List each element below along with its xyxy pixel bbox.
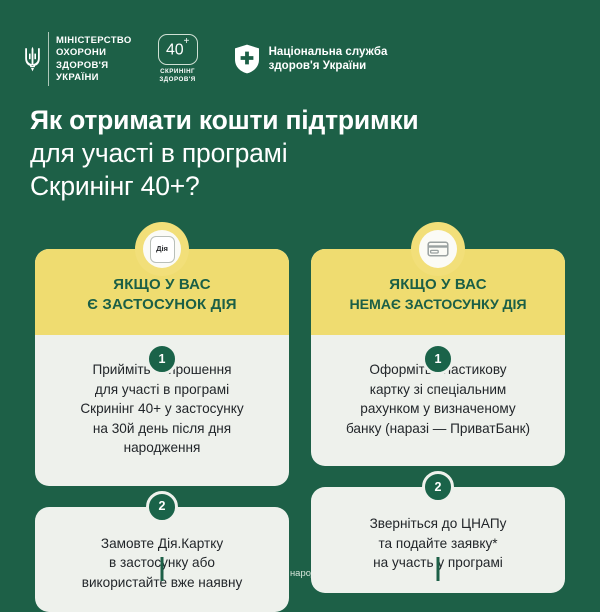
screening-number-value: 40 xyxy=(166,42,183,59)
ministry-line-1: МІНІСТЕРСТВО xyxy=(56,35,132,46)
ministry-of-health-logo: МІНІСТЕРСТВО ОХОРОНИ ЗДОРОВ'Я УКРАЇНИ xyxy=(24,31,132,87)
step-number: 2 xyxy=(435,481,442,494)
ministry-line-4: УКРАЇНИ xyxy=(56,72,132,83)
step-number: 1 xyxy=(159,353,166,366)
diia-icon-label: Дія xyxy=(156,245,168,253)
screening-40plus-logo: 40+ СКРИНІНГ ЗДОРОВ'Я xyxy=(158,34,198,83)
credit-card-badge xyxy=(411,222,465,276)
ministry-logo-text: МІНІСТЕРСТВО ОХОРОНИ ЗДОРОВ'Я УКРАЇНИ xyxy=(56,35,132,84)
step-connector-without-diia xyxy=(437,557,440,581)
screening-40plus-badge: 40+ xyxy=(158,34,198,65)
step-1-line-3: рахунком у визначеному xyxy=(323,399,553,419)
scenario-card-with-diia: ЯКЩО У ВАС Є ЗАСТОСУНОК ДІЯ 1 Прийміть з… xyxy=(35,249,289,486)
screening-caption: СКРИНІНГ ЗДОРОВ'Я xyxy=(159,68,195,83)
badge-inner-circle: Дія xyxy=(143,230,181,268)
step-2-line-2: та подайте заявку* xyxy=(323,534,553,554)
step-1-line-4: на 30й день після дня xyxy=(47,419,277,439)
step-badge-2-with-diia: 2 xyxy=(146,491,178,523)
screening-caption-line-2: ЗДОРОВ'Я xyxy=(159,76,195,84)
infographic-poster: МІНІСТЕРСТВО ОХОРОНИ ЗДОРОВ'Я УКРАЇНИ 40… xyxy=(0,0,600,600)
step-1-line-3: Скринінг 40+ у застосунку xyxy=(47,399,277,419)
scenario-title-line-1: ЯКЩО У ВАС xyxy=(45,275,279,295)
nszu-line-1: Національна служба xyxy=(269,45,388,59)
headline-line-3: Скринінг 40+? xyxy=(30,170,570,203)
logo-bar: МІНІСТЕРСТВО ОХОРОНИ ЗДОРОВ'Я УКРАЇНИ 40… xyxy=(24,28,576,90)
step-1-line-2: картку зі спеціальним xyxy=(323,380,553,400)
screening-caption-line-1: СКРИНІНГ xyxy=(159,68,195,76)
badge-inner-circle xyxy=(419,230,457,268)
step-connector-with-diia xyxy=(161,557,164,581)
headline-line-2: для участі в програмі xyxy=(30,137,570,170)
scenario-title-line-1: ЯКЩО У ВАС xyxy=(321,275,555,295)
ukraine-trident-icon xyxy=(24,46,41,72)
screening-plus-sign: + xyxy=(183,36,189,47)
scenario-columns: Дія ЯКЩО У ВАС Є ЗАСТОСУНОК ДІЯ 1 Приймі… xyxy=(35,222,565,612)
scenario-title-line-2: НЕМАЄ ЗАСТОСУНКУ ДІЯ xyxy=(321,295,555,315)
step-1-line-5: народження xyxy=(47,438,277,458)
step-1-line-4: банку (наразі — ПриватБанк) xyxy=(323,419,553,439)
nszu-logo: Національна служба здоров'я України xyxy=(234,44,388,74)
shield-cross-icon xyxy=(234,44,260,74)
screening-40plus-number: 40+ xyxy=(166,41,189,58)
nszu-logo-text: Національна служба здоров'я України xyxy=(269,45,388,73)
ministry-line-3: ЗДОРОВ'Я xyxy=(56,60,132,71)
scenario-column-without-diia: ЯКЩО У ВАС НЕМАЄ ЗАСТОСУНКУ ДІЯ 1 Оформі… xyxy=(311,222,565,612)
step-badge-1-without-diia: 1 xyxy=(422,343,454,375)
step-2-line-1: Зверніться до ЦНАПу xyxy=(323,514,553,534)
step-number: 2 xyxy=(159,500,166,513)
step-1-line-2: для участі в програмі xyxy=(47,380,277,400)
step-2-line-1: Замовте Дія.Картку xyxy=(47,534,277,554)
ministry-line-2: ОХОРОНИ xyxy=(56,47,132,58)
step-number: 1 xyxy=(435,353,442,366)
step-badge-2-without-diia: 2 xyxy=(422,471,454,503)
diia-app-badge: Дія xyxy=(135,222,189,276)
step-badge-1-with-diia: 1 xyxy=(146,343,178,375)
credit-card-icon xyxy=(426,237,450,261)
headline-line-1: Як отримати кошти підтримки xyxy=(30,104,570,137)
scenario-column-with-diia: Дія ЯКЩО У ВАС Є ЗАСТОСУНОК ДІЯ 1 Приймі… xyxy=(35,222,289,612)
page-title: Як отримати кошти підтримки для участі в… xyxy=(30,104,570,203)
logo-divider xyxy=(48,32,49,86)
diia-app-icon: Дія xyxy=(150,236,175,263)
nszu-line-2: здоров'я України xyxy=(269,59,388,73)
scenario-title-line-2: Є ЗАСТОСУНОК ДІЯ xyxy=(45,295,279,315)
scenario-card-without-diia: ЯКЩО У ВАС НЕМАЄ ЗАСТОСУНКУ ДІЯ 1 Оформі… xyxy=(311,249,565,466)
